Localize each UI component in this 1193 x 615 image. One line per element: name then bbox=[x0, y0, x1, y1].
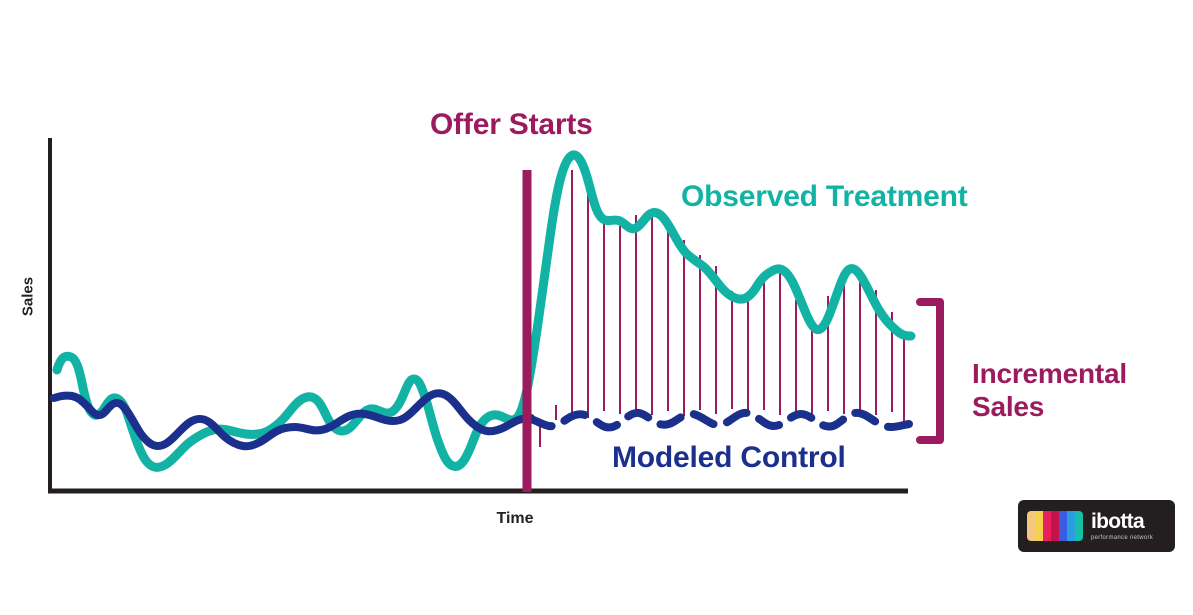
incremental-sales-label-line1: Incremental bbox=[972, 358, 1127, 391]
ibotta-logo-text: ibotta performance network bbox=[1091, 511, 1153, 541]
offer-starts-label: Offer Starts bbox=[430, 108, 593, 142]
legend-label-modeled-control: Modeled Control bbox=[612, 441, 846, 475]
incremental-sales-label-line2: Sales bbox=[972, 391, 1127, 424]
legend-label-observed-treatment: Observed Treatment bbox=[681, 180, 968, 214]
logo-stripe-4 bbox=[1051, 511, 1059, 541]
incremental-sales-bracket bbox=[920, 302, 940, 440]
logo-stripe-5 bbox=[1059, 511, 1067, 541]
incremental-sales-label: Incremental Sales bbox=[972, 358, 1127, 424]
logo-stripe-3 bbox=[1043, 511, 1051, 541]
incremental-sales-chart bbox=[0, 0, 1193, 615]
logo-stripe-1 bbox=[1027, 511, 1035, 541]
chart-canvas: Offer Starts Observed Treatment Modeled … bbox=[0, 0, 1193, 615]
y-axis-label: Sales bbox=[20, 267, 37, 327]
logo-stripe-2 bbox=[1035, 511, 1043, 541]
ibotta-logo-stripes bbox=[1027, 511, 1083, 541]
ibotta-logo: ibotta performance network bbox=[1018, 500, 1175, 552]
ibotta-tagline: performance network bbox=[1091, 535, 1153, 541]
series-modeled-control-post bbox=[531, 413, 909, 428]
logo-stripe-6 bbox=[1067, 511, 1075, 541]
ibotta-wordmark: ibotta bbox=[1091, 511, 1153, 532]
logo-stripe-7 bbox=[1075, 511, 1083, 541]
x-axis-label: Time bbox=[440, 510, 590, 528]
